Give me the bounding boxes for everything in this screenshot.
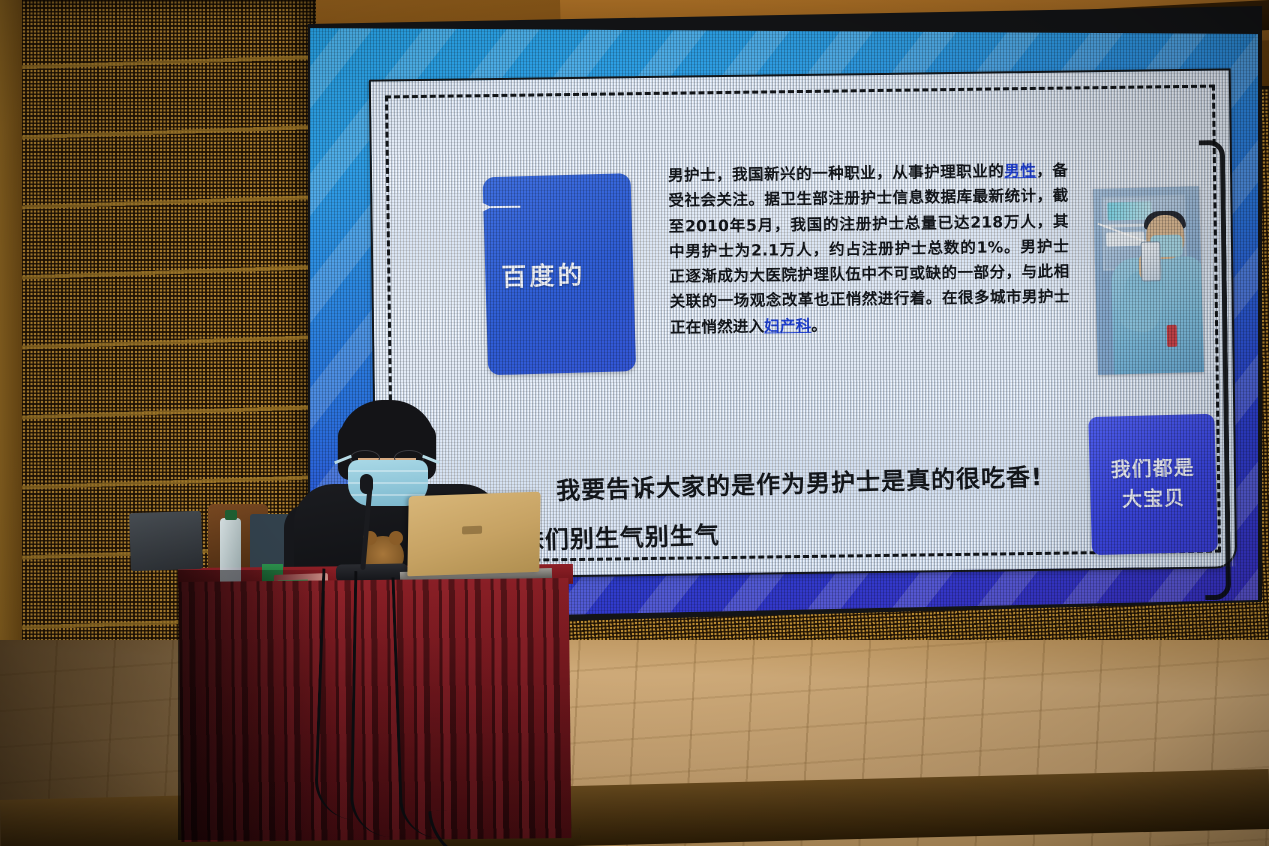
baby-badge-line-2: 大宝贝 bbox=[1122, 484, 1186, 516]
table-shadow bbox=[178, 570, 338, 840]
paragraph-segment-2: ，备受社会关注。据卫生部注册护士信息数据库最新统计，截至2010年5月，我国的注… bbox=[668, 162, 1070, 337]
second-laptop[interactable] bbox=[129, 511, 203, 571]
photo-id-badge bbox=[1167, 325, 1178, 347]
link-male[interactable]: 男性 bbox=[1004, 162, 1036, 180]
baidu-badge: 百度的 bbox=[483, 173, 637, 375]
microphone-head bbox=[360, 474, 373, 494]
paragraph-segment-1: 男护士，我国新兴的一种职业，从事护理职业的 bbox=[668, 162, 1004, 184]
link-obstetrics[interactable]: 妇产科 bbox=[764, 317, 811, 336]
baby-badge: 我们都是 大宝贝 bbox=[1088, 414, 1218, 555]
baidu-badge-label: 百度的 bbox=[501, 255, 586, 293]
baby-badge-line-1: 我们都是 bbox=[1110, 453, 1195, 485]
cable-3 bbox=[391, 573, 540, 840]
wall-edge-trim bbox=[0, 0, 22, 700]
male-nurse-photo bbox=[1093, 186, 1204, 375]
laptop-logo bbox=[462, 526, 482, 535]
right-arrow-icon bbox=[490, 206, 520, 208]
slide-body-paragraph: 男护士，我国新兴的一种职业，从事护理职业的男性，备受社会关注。据卫生部注册护士信… bbox=[668, 159, 1070, 341]
laptop[interactable] bbox=[407, 492, 540, 577]
presentation-hall-scene: 百度的 男护士，我国新兴的一种职业，从事护理职业的男性，备受社会关注。据卫生部注… bbox=[0, 0, 1269, 846]
bottle-cap bbox=[225, 510, 237, 520]
paragraph-segment-3: 。 bbox=[811, 316, 827, 334]
photo-phone bbox=[1140, 241, 1161, 282]
